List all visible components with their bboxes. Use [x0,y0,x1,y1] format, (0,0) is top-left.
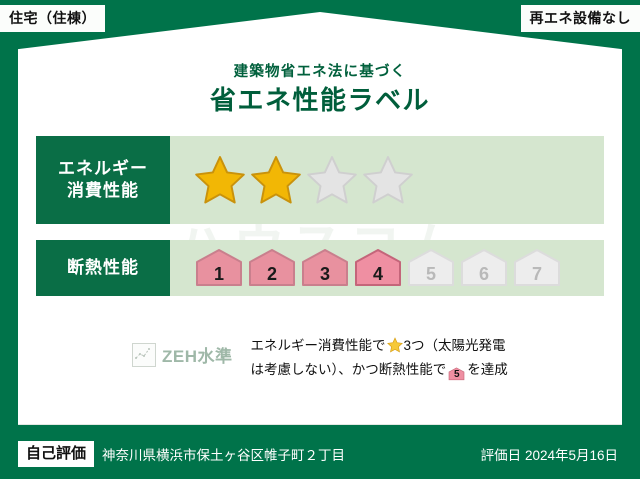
star-icon-empty [362,154,414,206]
star-rating [170,136,604,224]
energy-label-line1: エネルギー [58,158,148,180]
insulation-label-line1: 断熱性能 [67,257,139,279]
star-icon-filled [250,154,302,206]
insulation-level-inline-icon: 5 [448,366,465,381]
energy-performance-row: エネルギー 消費性能 [36,136,604,224]
zeh-description-line2: は考慮しない）、かつ断熱性能で5を達成 [251,358,605,382]
zeh-badge: ZEH水準 [132,342,233,367]
zeh-desc-text-b: 3つ（太陽光発電 [404,338,506,353]
star-icon-empty [306,154,358,206]
star-icon [387,337,403,353]
zeh-desc-text-c: は考慮しない）、かつ断熱性能で [251,362,447,377]
insulation-level-scale: 1234567 [170,240,604,296]
insulation-level-6: 6 [459,248,509,288]
insulation-level-4: 4 [353,248,403,288]
insulation-level-value: 5 [426,265,436,288]
zeh-desc-text-a: エネルギー消費性能で [251,338,386,353]
insulation-level-value: 2 [267,265,277,288]
zeh-badge-label: ZEH水準 [162,342,233,367]
label-subtitle: 建築物省エネ法に基づく [0,60,640,81]
renewable-energy-tag: 再エネ設備なし [521,5,640,32]
label-title: 省エネ性能ラベル [0,80,640,117]
footer-divider [18,424,622,425]
self-evaluation-badge: 自己評価 [18,441,94,466]
evaluation-date-value: 2024年5月16日 [525,448,618,463]
insulation-level-2: 2 [247,248,297,288]
insulation-level-5: 5 [406,248,456,288]
zeh-description: エネルギー消費性能で3つ（太陽光発電 は考慮しない）、かつ断熱性能で5を達成 [251,334,605,381]
zeh-description-line1: エネルギー消費性能で3つ（太陽光発電 [251,334,605,358]
insulation-level-3: 3 [300,248,350,288]
insulation-level-7: 7 [512,248,562,288]
insulation-level-value: 7 [532,265,542,288]
zeh-chart-icon [132,343,156,367]
zeh-desc-text-d: を達成 [467,362,508,377]
insulation-performance-row: 断熱性能 1234567 [36,240,604,296]
insulation-performance-label: 断熱性能 [36,240,170,296]
footer-bar: 自己評価 神奈川県横浜市保土ヶ谷区帷子町２丁目 評価日 2024年5月16日 [0,429,640,479]
insulation-level-1: 1 [194,248,244,288]
insulation-level-inline-value: 5 [448,366,465,383]
insulation-level-value: 6 [479,265,489,288]
insulation-level-value: 1 [214,265,224,288]
energy-performance-label: ハウスコム 住宅（住棟） 再エネ設備なし 建築物省エネ法に基づく 省エネ性能ラベ… [0,0,640,479]
evaluation-date-label: 評価日 [481,448,522,463]
zeh-standard-block: ZEH水準 エネルギー消費性能で3つ（太陽光発電 は考慮しない）、かつ断熱性能で… [36,334,604,398]
insulation-level-value: 4 [373,265,383,288]
evaluation-date: 評価日 2024年5月16日 [481,444,618,464]
property-address: 神奈川県横浜市保土ヶ谷区帷子町２丁目 [102,444,345,464]
building-type-tag: 住宅（住棟） [0,5,105,32]
energy-label-line2: 消費性能 [67,180,139,202]
star-icon-filled [194,154,246,206]
insulation-level-value: 3 [320,265,330,288]
energy-performance-label: エネルギー 消費性能 [36,136,170,224]
